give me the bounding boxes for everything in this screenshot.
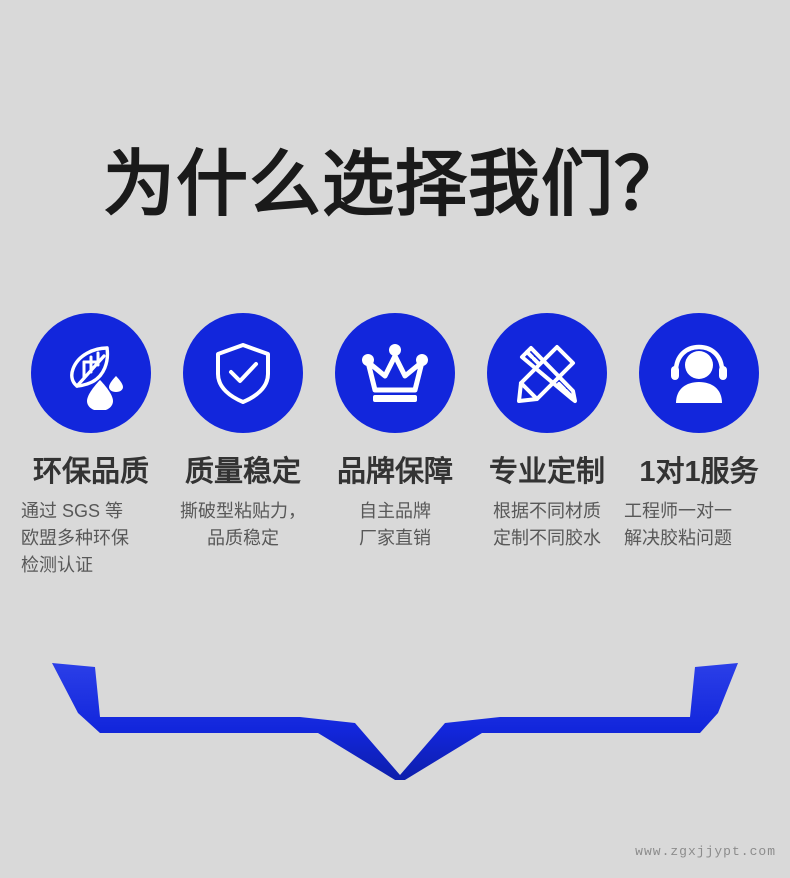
feature-description: 工程师一对一 解决胶粘问题	[624, 498, 774, 552]
headset-support-icon	[666, 341, 732, 405]
feature-item-service: 1对1服务 工程师一对一 解决胶粘问题	[634, 313, 764, 579]
feature-title: 质量稳定	[185, 455, 301, 489]
feature-item-custom: 专业定制 根据不同材质 定制不同胶水	[482, 313, 612, 579]
promo-banner-page: 为什么选择我们？	[0, 0, 790, 878]
icon-circle-eco	[31, 313, 151, 433]
feature-item-eco: 环保品质 通过 SGS 等 欧盟多种环保 检测认证	[26, 313, 156, 579]
pencil-ruler-icon	[513, 339, 581, 407]
page-title: 为什么选择我们？	[0, 142, 790, 228]
feature-description: 自主品牌 厂家直销	[320, 498, 470, 552]
shield-check-icon	[210, 340, 276, 406]
icon-circle-quality	[183, 313, 303, 433]
feature-description: 撕破型粘贴力， 品质稳定	[168, 498, 318, 552]
leaf-water-drop-icon	[54, 336, 128, 410]
icon-circle-service	[639, 313, 759, 433]
feature-item-brand: 品牌保障 自主品牌 厂家直销	[330, 313, 460, 579]
feature-title: 专业定制	[489, 455, 605, 489]
feature-list: 环保品质 通过 SGS 等 欧盟多种环保 检测认证 质量稳定 撕破型粘贴力， 品…	[0, 313, 790, 579]
feature-title: 品牌保障	[337, 455, 453, 489]
feature-title: 1对1服务	[639, 455, 758, 489]
crown-icon	[359, 340, 431, 406]
feature-description: 根据不同材质 定制不同胶水	[472, 498, 622, 552]
icon-circle-custom	[487, 313, 607, 433]
site-watermark: www.zgxjjypt.com	[635, 844, 776, 859]
icon-circle-brand	[335, 313, 455, 433]
feature-item-quality: 质量稳定 撕破型粘贴力， 品质稳定	[178, 313, 308, 579]
blue-chevron-banner	[0, 655, 790, 780]
feature-description: 通过 SGS 等 欧盟多种环保 检测认证	[21, 498, 161, 579]
feature-title: 环保品质	[33, 455, 149, 489]
